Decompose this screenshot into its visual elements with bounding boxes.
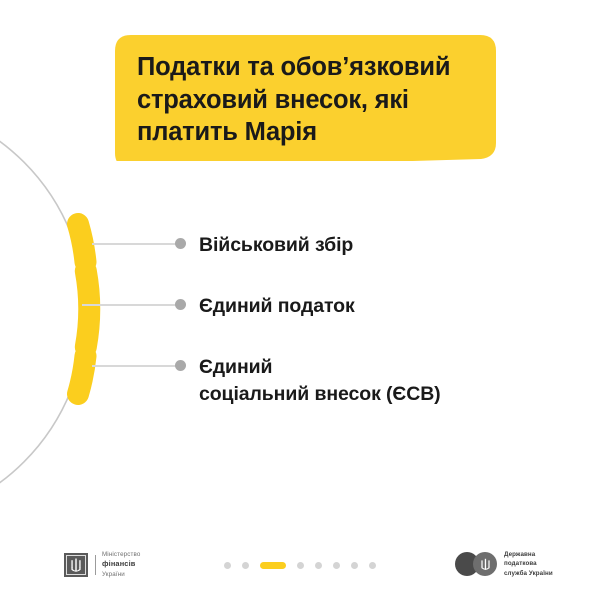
page-title: Податки та обов’язковий страховий внесок… <box>137 51 482 149</box>
list-item-label: Військовий збір <box>199 232 353 259</box>
pagination-dot-6[interactable] <box>333 562 340 569</box>
bullet-dot-icon <box>175 360 186 371</box>
tax-logo-line1: Державна <box>504 551 535 558</box>
tax-service-logo: Державна податкова служба України <box>455 550 553 578</box>
bullet-dot-icon <box>175 238 186 249</box>
ministry-logo-line3: України <box>102 571 125 578</box>
ministry-logo-text: Міністерство фінансів України <box>102 550 140 579</box>
tax-service-logo-text: Державна податкова служба України <box>504 550 553 578</box>
list-item-label: Єдиний соціальний внесок (ЄСВ) <box>199 354 441 407</box>
pagination-dot-8[interactable] <box>369 562 376 569</box>
emblem-circle-right <box>473 552 497 576</box>
connector-line-2 <box>82 304 180 306</box>
pagination-dot-2[interactable] <box>242 562 249 569</box>
slide-canvas: Податки та обов’язковий страховий внесок… <box>0 0 600 600</box>
ukraine-trident-emblem-icon <box>480 558 491 571</box>
pagination-dot-1[interactable] <box>224 562 231 569</box>
pagination-dot-5[interactable] <box>315 562 322 569</box>
arc-segment-3 <box>78 356 86 394</box>
list-item[interactable]: Єдиний податок <box>175 293 355 320</box>
ministry-logo-line1: Міністерство <box>102 551 140 558</box>
title-banner: Податки та обов’язковий страховий внесок… <box>115 35 496 161</box>
tax-logo-line3: служба України <box>504 570 553 577</box>
ministry-of-finance-logo: Міністерство фінансів України <box>64 550 140 579</box>
logo-divider <box>95 555 96 575</box>
list-item[interactable]: Єдиний соціальний внесок (ЄСВ) <box>175 354 441 407</box>
arc-segment-2 <box>86 271 89 347</box>
list-item[interactable]: Військовий збір <box>175 232 353 259</box>
list-item-label: Єдиний податок <box>199 293 355 320</box>
bullet-dot-icon <box>175 299 186 310</box>
connector-line-3 <box>92 365 180 367</box>
tax-logo-line2: податкова <box>504 560 537 567</box>
ministry-logo-line2: фінансів <box>102 559 135 568</box>
arc-segment-1 <box>78 224 86 262</box>
pagination-dot-7[interactable] <box>351 562 358 569</box>
pagination-dot-3-active[interactable] <box>260 562 286 569</box>
ukraine-trident-emblem-icon <box>64 553 88 577</box>
pagination-dot-4[interactable] <box>297 562 304 569</box>
connector-line-1 <box>92 243 180 245</box>
circle-outline <box>0 100 86 524</box>
tax-service-emblem-icon <box>455 552 497 576</box>
